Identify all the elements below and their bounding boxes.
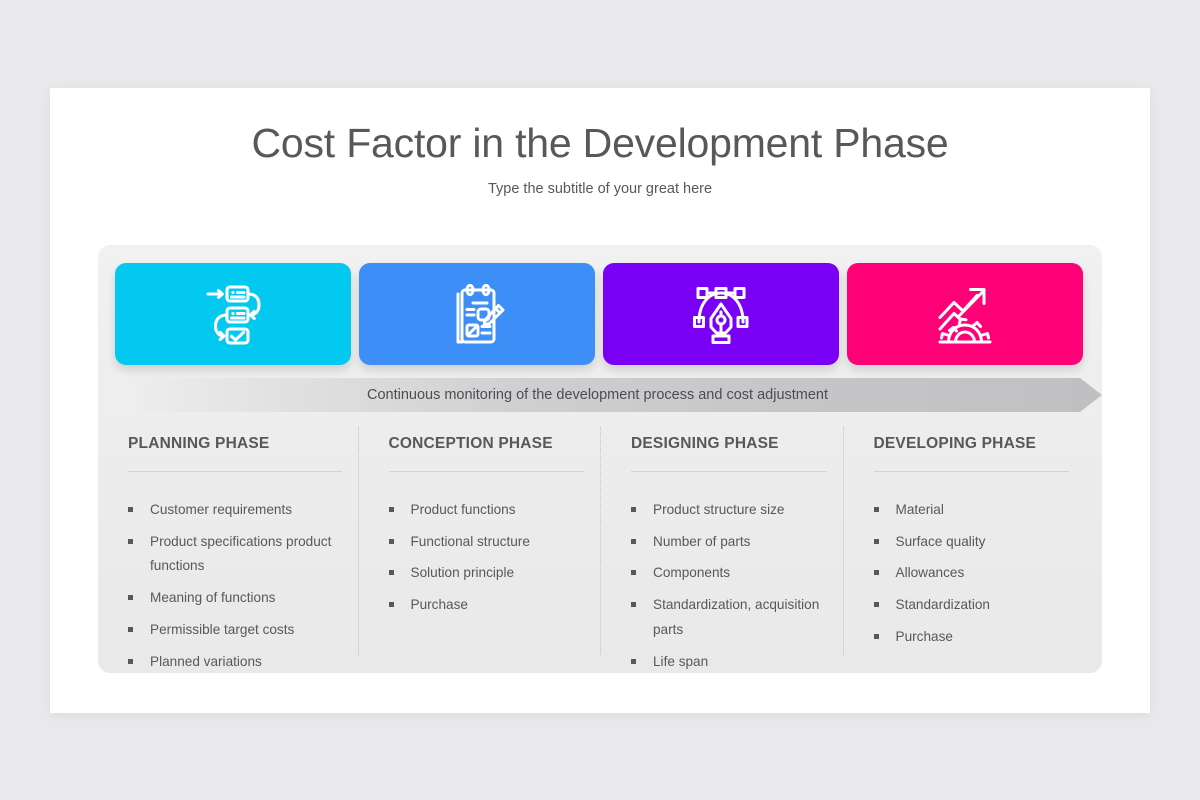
- phase-column-designing: DESIGNING PHASE Product structure size N…: [600, 427, 843, 655]
- column-divider: [128, 471, 342, 472]
- list-item: Product functions: [389, 498, 591, 523]
- list-item: Purchase: [389, 593, 591, 618]
- column-divider: [874, 471, 1070, 472]
- list-item: Surface quality: [874, 530, 1076, 555]
- column-items-developing: Material Surface quality Allowances Stan…: [874, 498, 1076, 650]
- phase-columns: PLANNING PHASE Customer requirements Pro…: [115, 427, 1085, 655]
- bullet-icon: [631, 602, 636, 607]
- bullet-icon: [874, 602, 879, 607]
- list-item-label: Components: [653, 565, 730, 580]
- diagram-panel: Continuous monitoring of the development…: [98, 245, 1102, 673]
- list-item-label: Purchase: [411, 597, 468, 612]
- column-header-developing: DEVELOPING PHASE: [874, 427, 1076, 471]
- phase-column-conception: CONCEPTION PHASE Product functions Funct…: [358, 427, 601, 655]
- list-item-label: Surface quality: [896, 534, 986, 549]
- bullet-icon: [128, 507, 133, 512]
- column-header-designing: DESIGNING PHASE: [631, 427, 833, 471]
- monitoring-banner: Continuous monitoring of the development…: [115, 378, 1102, 412]
- list-item-label: Product functions: [411, 502, 516, 517]
- list-item: Standardization: [874, 593, 1076, 618]
- list-item: Solution principle: [389, 561, 591, 586]
- slide-card: Cost Factor in the Development Phase Typ…: [50, 88, 1150, 713]
- column-divider: [631, 471, 827, 472]
- phase-column-planning: PLANNING PHASE Customer requirements Pro…: [115, 427, 358, 655]
- list-item-label: Product specifications product functions: [150, 534, 331, 574]
- bullet-icon: [389, 602, 394, 607]
- bullet-icon: [128, 659, 133, 664]
- bullet-icon: [389, 539, 394, 544]
- list-item-label: Standardization, acquisition parts: [653, 597, 819, 637]
- list-item-label: Product structure size: [653, 502, 784, 517]
- page-subtitle: Type the subtitle of your great here: [50, 166, 1150, 197]
- list-item: Number of parts: [631, 530, 833, 555]
- list-item: Product structure size: [631, 498, 833, 523]
- list-item: Standardization, acquisition parts: [631, 593, 833, 642]
- bullet-icon: [631, 570, 636, 575]
- phase-tile-developing[interactable]: [847, 263, 1083, 365]
- bullet-icon: [874, 507, 879, 512]
- bullet-icon: [874, 634, 879, 639]
- phase-column-developing: DEVELOPING PHASE Material Surface qualit…: [843, 427, 1086, 655]
- list-item-label: Purchase: [896, 629, 953, 644]
- list-item: Product specifications product functions: [128, 530, 348, 579]
- phase-tile-designing[interactable]: [603, 263, 839, 365]
- list-item: Material: [874, 498, 1076, 523]
- list-item-label: Allowances: [896, 565, 965, 580]
- bullet-icon: [874, 570, 879, 575]
- workflow-process-icon: [197, 278, 269, 350]
- bullet-icon: [128, 595, 133, 600]
- list-item-label: Customer requirements: [150, 502, 292, 517]
- bullet-icon: [631, 507, 636, 512]
- list-item: Permissible target costs: [128, 618, 348, 643]
- list-item-label: Standardization: [896, 597, 990, 612]
- list-item: Planned variations: [128, 650, 348, 675]
- bullet-icon: [874, 539, 879, 544]
- list-item: Functional structure: [389, 530, 591, 555]
- list-item-label: Functional structure: [411, 534, 530, 549]
- list-item: Purchase: [874, 625, 1076, 650]
- phase-tiles-row: [115, 263, 1085, 365]
- list-item-label: Material: [896, 502, 944, 517]
- bullet-icon: [389, 507, 394, 512]
- column-items-conception: Product functions Functional structure S…: [389, 498, 591, 618]
- column-divider: [389, 471, 585, 472]
- column-items-designing: Product structure size Number of parts C…: [631, 498, 833, 674]
- bullet-icon: [631, 659, 636, 664]
- slide-page: Cost Factor in the Development Phase Typ…: [0, 0, 1200, 800]
- list-item-label: Planned variations: [150, 654, 262, 669]
- bullet-icon: [128, 627, 133, 632]
- page-title: Cost Factor in the Development Phase: [50, 88, 1150, 166]
- bullet-icon: [631, 539, 636, 544]
- list-item-label: Meaning of functions: [150, 590, 275, 605]
- list-item: Meaning of functions: [128, 586, 348, 611]
- column-header-planning: PLANNING PHASE: [128, 427, 348, 471]
- banner-label: Continuous monitoring of the development…: [115, 378, 1080, 412]
- list-item-label: Solution principle: [411, 565, 515, 580]
- list-item: Life span: [631, 650, 833, 675]
- column-items-planning: Customer requirements Product specificat…: [128, 498, 348, 674]
- list-item-label: Permissible target costs: [150, 622, 294, 637]
- list-item: Components: [631, 561, 833, 586]
- phase-tile-conception[interactable]: [359, 263, 595, 365]
- list-item: Allowances: [874, 561, 1076, 586]
- column-header-conception: CONCEPTION PHASE: [389, 427, 591, 471]
- clipboard-pencil-icon: [441, 278, 513, 350]
- bezier-pen-tool-icon: [685, 278, 757, 350]
- phase-tile-planning[interactable]: [115, 263, 351, 365]
- list-item-label: Life span: [653, 654, 708, 669]
- bullet-icon: [128, 539, 133, 544]
- growth-arrow-gear-icon: [929, 278, 1001, 350]
- list-item-label: Number of parts: [653, 534, 750, 549]
- list-item: Customer requirements: [128, 498, 348, 523]
- bullet-icon: [389, 570, 394, 575]
